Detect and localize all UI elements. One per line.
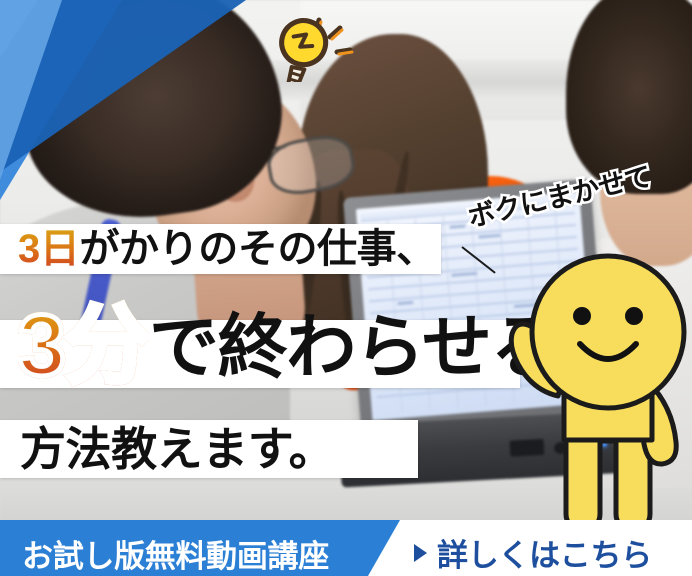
headline-line-2: 3分で終わらせる: [18, 306, 559, 391]
headline-line-1: 3日がかりのその仕事、: [18, 225, 436, 273]
headline-line-2-highlight: 3分: [18, 298, 149, 394]
yellow-smiley-mascot: [492, 226, 692, 526]
ad-banner: 3日がかりのその仕事、 3分で終わらせる 方法教えます。 ボクにまかせて: [0, 0, 692, 576]
trial-course-tag-label: お試し版無料動画講座: [22, 531, 329, 576]
headline-line-1-highlight: 3日: [18, 227, 79, 271]
details-link[interactable]: 詳しくはこちら: [414, 530, 652, 575]
details-link-label: 詳しくはこちら: [437, 530, 652, 575]
play-triangle-icon: [414, 544, 427, 562]
lightbulb-icon: [262, 8, 366, 82]
headline-line-3: 方法教えます。: [20, 421, 334, 477]
headline-line-1-rest: がかりのその仕事、: [79, 227, 435, 271]
bottom-cta-bar[interactable]: お試し版無料動画講座 詳しくはこちら: [0, 520, 692, 576]
